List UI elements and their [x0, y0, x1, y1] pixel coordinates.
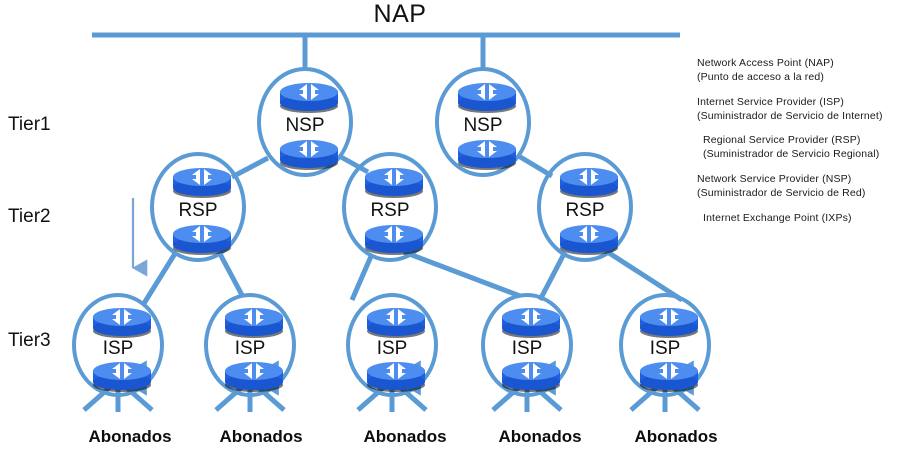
node-label-isp-5: ISP	[623, 338, 707, 360]
node-nsp-1[interactable]: NSP	[257, 67, 353, 177]
router-icon	[170, 222, 234, 256]
link-rsp1-isp2	[219, 252, 243, 297]
subscribers-label-4: Abonados	[470, 427, 610, 447]
tier-label-2: Tier2	[8, 206, 51, 228]
legend-rsp-term: Regional Service Provider (RSP)	[697, 134, 902, 148]
node-label-nsp-2: NSP	[439, 115, 527, 137]
link-rsp1-isp1	[143, 252, 176, 305]
link-nsp1-rsp1	[232, 158, 268, 177]
router-icon	[362, 165, 426, 199]
link-rsp2-isp3	[352, 254, 372, 300]
router-icon	[222, 359, 286, 393]
legend-nap-translation: (Punto de acceso a la red)	[697, 71, 902, 85]
legend-nsp-translation: (Suministrador de Servicio de Red)	[697, 187, 902, 201]
tier-label-3: Tier3	[8, 330, 51, 352]
router-icon	[455, 137, 519, 171]
subscribers-label-2: Abonados	[191, 427, 331, 447]
legend-isp-translation: (Suministrador de Servicio de Internet)	[697, 110, 902, 124]
node-nsp-2[interactable]: NSP	[435, 67, 531, 177]
router-icon	[637, 305, 701, 339]
router-icon	[499, 305, 563, 339]
node-isp-1[interactable]: ISP	[72, 293, 164, 397]
router-icon	[277, 80, 341, 114]
router-icon	[90, 359, 154, 393]
node-label-nsp-1: NSP	[261, 115, 349, 137]
router-icon	[90, 305, 154, 339]
page-title: NAP	[330, 0, 470, 29]
legend-entry-ixp: Internet Exchange Point (IXPs)	[697, 212, 902, 226]
legend-entry-nsp: Network Service Provider (NSP) (Suminist…	[697, 173, 902, 201]
node-label-rsp-2: RSP	[346, 200, 434, 222]
network-hierarchy-diagram: NAP Tier1 Tier2 Tier3 NSP	[0, 0, 902, 461]
router-icon	[557, 222, 621, 256]
router-icon	[170, 165, 234, 199]
legend-entry-nap: Network Access Point (NAP) (Punto de acc…	[697, 57, 902, 85]
node-label-isp-3: ISP	[350, 338, 434, 360]
node-label-isp-2: ISP	[208, 338, 292, 360]
router-icon	[364, 359, 428, 393]
legend-entry-isp: Internet Service Provider (ISP) (Suminis…	[697, 96, 902, 124]
node-rsp-2[interactable]: RSP	[342, 152, 438, 262]
legend-ixp-term: Internet Exchange Point (IXPs)	[697, 212, 902, 226]
node-label-rsp-3: RSP	[541, 200, 629, 222]
legend-isp-term: Internet Service Provider (ISP)	[697, 96, 902, 110]
router-icon	[362, 222, 426, 256]
router-icon	[637, 359, 701, 393]
link-rsp2-isp4	[404, 252, 520, 296]
node-rsp-1[interactable]: RSP	[150, 152, 246, 262]
router-icon	[499, 359, 563, 393]
router-icon	[277, 137, 341, 171]
subscribers-label-3: Abonados	[335, 427, 475, 447]
subscribers-label-5: Abonados	[606, 427, 746, 447]
node-label-isp-1: ISP	[76, 338, 160, 360]
node-isp-2[interactable]: ISP	[204, 293, 296, 397]
subscribers-label-1: Abonados	[60, 427, 200, 447]
legend-rsp-translation: (Suministrador de Servicio Regional)	[697, 148, 902, 162]
link-rsp3-isp4	[540, 252, 565, 300]
router-icon	[455, 80, 519, 114]
router-icon	[364, 305, 428, 339]
node-label-isp-4: ISP	[485, 338, 569, 360]
router-icon	[557, 165, 621, 199]
router-icon	[222, 305, 286, 339]
legend: Network Access Point (NAP) (Punto de acc…	[697, 57, 902, 237]
node-rsp-3[interactable]: RSP	[537, 152, 633, 262]
legend-nsp-term: Network Service Provider (NSP)	[697, 173, 902, 187]
tier-label-1: Tier1	[8, 114, 51, 136]
node-isp-5[interactable]: ISP	[619, 293, 711, 397]
node-isp-4[interactable]: ISP	[481, 293, 573, 397]
legend-nap-term: Network Access Point (NAP)	[697, 57, 902, 71]
node-label-rsp-1: RSP	[154, 200, 242, 222]
node-isp-3[interactable]: ISP	[346, 293, 438, 397]
legend-entry-rsp: Regional Service Provider (RSP) (Suminis…	[697, 134, 902, 162]
